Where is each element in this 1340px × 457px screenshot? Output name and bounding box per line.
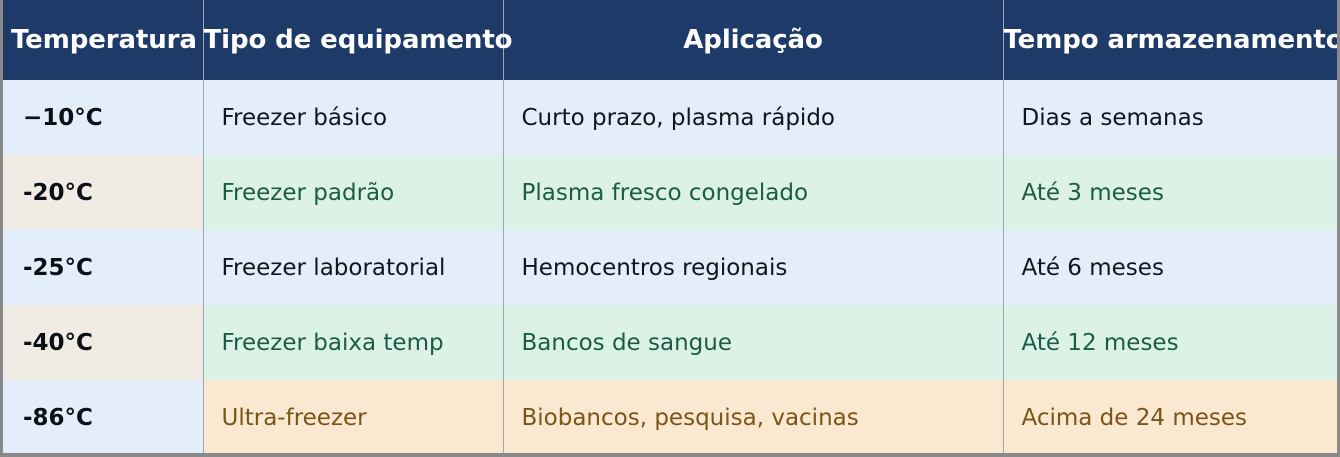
column-header-aplicacao-label: Aplicação	[504, 25, 1003, 55]
column-header-tempo-armazenamento-label: Tempo armazenamento	[1004, 25, 1338, 55]
cell-temperatura: -25°C	[3, 230, 203, 305]
table-header-row: Temperatura Tipo de equipamento Aplicaçã…	[3, 0, 1337, 80]
cell-tipo-equipamento: Freezer baixa temp	[203, 305, 503, 380]
cell-aplicacao: Plasma fresco congelado	[503, 155, 1003, 230]
temperature-storage-table: Temperatura Tipo de equipamento Aplicaçã…	[3, 0, 1337, 455]
cell-tempo-armazenamento: Acima de 24 meses	[1003, 380, 1337, 455]
cell-temperatura: -40°C	[3, 305, 203, 380]
column-header-temperatura-label: Temperatura	[3, 25, 203, 55]
column-header-tipo-equipamento: Tipo de equipamento	[203, 0, 503, 80]
cell-temperatura: −10°C	[3, 80, 203, 155]
table-header: Temperatura Tipo de equipamento Aplicaçã…	[3, 0, 1337, 80]
column-header-aplicacao: Aplicação	[503, 0, 1003, 80]
table-row: -40°C Freezer baixa temp Bancos de sangu…	[3, 305, 1337, 380]
cell-temperatura: -86°C	[3, 380, 203, 455]
cell-tempo-armazenamento: Dias a semanas	[1003, 80, 1337, 155]
cell-tipo-equipamento: Freezer padrão	[203, 155, 503, 230]
table-row: -86°C Ultra-freezer Biobancos, pesquisa,…	[3, 380, 1337, 455]
table-row: −10°C Freezer básico Curto prazo, plasma…	[3, 80, 1337, 155]
cell-tipo-equipamento: Freezer laboratorial	[203, 230, 503, 305]
cell-aplicacao: Hemocentros regionais	[503, 230, 1003, 305]
cell-tempo-armazenamento: Até 12 meses	[1003, 305, 1337, 380]
column-header-temperatura: Temperatura	[3, 0, 203, 80]
cell-tipo-equipamento: Freezer básico	[203, 80, 503, 155]
cell-aplicacao: Bancos de sangue	[503, 305, 1003, 380]
cell-aplicacao: Curto prazo, plasma rápido	[503, 80, 1003, 155]
cell-aplicacao: Biobancos, pesquisa, vacinas	[503, 380, 1003, 455]
cell-tempo-armazenamento: Até 3 meses	[1003, 155, 1337, 230]
cell-tipo-equipamento: Ultra-freezer	[203, 380, 503, 455]
table-row: -20°C Freezer padrão Plasma fresco conge…	[3, 155, 1337, 230]
cell-tempo-armazenamento: Até 6 meses	[1003, 230, 1337, 305]
temperature-storage-table-frame: Temperatura Tipo de equipamento Aplicaçã…	[0, 0, 1340, 457]
table-body: −10°C Freezer básico Curto prazo, plasma…	[3, 80, 1337, 455]
cell-temperatura: -20°C	[3, 155, 203, 230]
table-row: -25°C Freezer laboratorial Hemocentros r…	[3, 230, 1337, 305]
column-header-tempo-armazenamento: Tempo armazenamento	[1003, 0, 1337, 80]
column-header-tipo-equipamento-label: Tipo de equipamento	[204, 25, 503, 55]
